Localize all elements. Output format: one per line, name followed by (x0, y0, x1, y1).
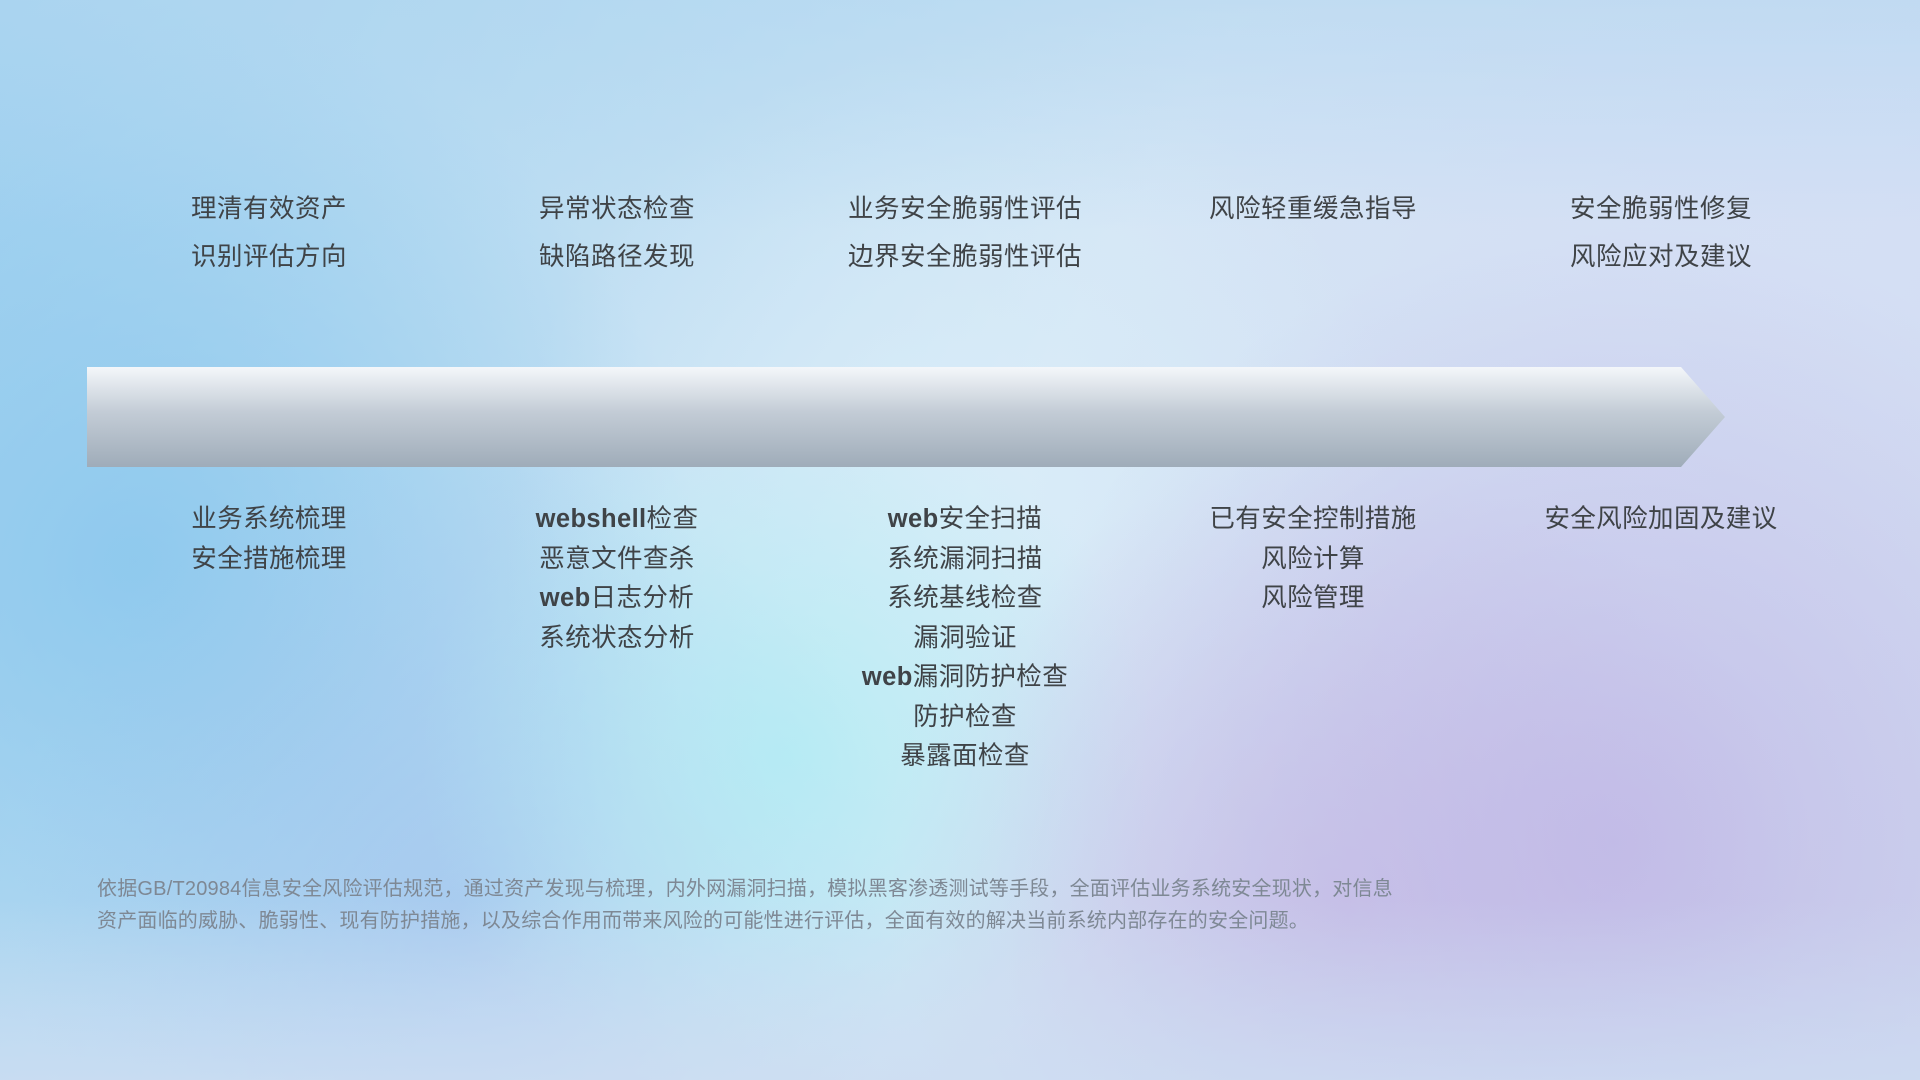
footer-description: 依据GB/T20984信息安全风险评估规范，通过资产发现与梳理，内外网漏洞扫描，… (97, 873, 1657, 937)
top-caption-column-risk-analysis: 风险轻重缓急指导 (1139, 185, 1487, 295)
bottom-caption-column-intrusion-check: webshell检查恶意文件查杀web日志分析系统状态分析 (443, 500, 791, 777)
bottom-caption-column-risk-analysis: 已有安全控制措施风险计算风险管理 (1139, 500, 1487, 777)
bottom-caption-line: 系统基线检查 (887, 579, 1042, 619)
bottom-caption-line: web安全扫描 (888, 500, 1042, 540)
bottom-caption-column-weakness-detection: web安全扫描系统漏洞扫描系统基线检查漏洞验证web漏洞防护检查防护检查暴露面检… (791, 500, 1139, 777)
top-caption-row: 理清有效资产识别评估方向异常状态检查缺陷路径发现业务安全脆弱性评估边界安全脆弱性… (95, 185, 1835, 295)
footer-line-2: 资产面临的威胁、脆弱性、现有防护措施，以及综合作用而带来风险的可能性进行评估，全… (97, 905, 1657, 937)
bottom-caption-line: 风险计算 (1261, 540, 1365, 580)
bottom-caption-line: 暴露面检查 (900, 737, 1030, 777)
top-caption-line: 理清有效资产 (191, 185, 347, 233)
chevron-bevel-intrusion-check (387, 367, 737, 467)
infographic-stage: 理清有效资产识别评估方向异常状态检查缺陷路径发现业务安全脆弱性评估边界安全脆弱性… (0, 0, 1920, 1080)
bottom-caption-column-risk-report: 安全风险加固及建议 (1487, 500, 1835, 777)
top-caption-line: 安全脆弱性修复 (1570, 185, 1752, 233)
bottom-caption-line: 恶意文件查杀 (539, 540, 694, 580)
top-caption-column-risk-report: 安全脆弱性修复风险应对及建议 (1487, 185, 1835, 295)
top-caption-line: 风险应对及建议 (1570, 233, 1752, 281)
chevron-bevel-weakness-detection (691, 367, 1101, 467)
bottom-caption-line: webshell检查 (536, 500, 699, 540)
bottom-caption-line: 业务系统梳理 (191, 500, 346, 540)
top-caption-column-weakness-detection: 业务安全脆弱性评估边界安全脆弱性评估 (791, 185, 1139, 295)
bottom-caption-line: 防护检查 (913, 698, 1017, 738)
top-caption-column-intrusion-check: 异常状态检查缺陷路径发现 (443, 185, 791, 295)
bottom-caption-line: 系统状态分析 (539, 619, 694, 659)
bottom-caption-line: 安全措施梳理 (191, 540, 346, 580)
chevron-bevel-risk-analysis (1055, 367, 1379, 467)
bottom-caption-line: 安全风险加固及建议 (1544, 500, 1777, 540)
footer-line-1: 依据GB/T20984信息安全风险评估规范，通过资产发现与梳理，内外网漏洞扫描，… (97, 873, 1657, 905)
chevron-bevel-asset-inventory (87, 367, 433, 467)
bottom-caption-line: web漏洞防护检查 (862, 658, 1068, 698)
bottom-caption-line: web日志分析 (540, 579, 694, 619)
top-caption-line: 识别评估方向 (191, 233, 347, 281)
top-caption-line: 边界安全脆弱性评估 (848, 233, 1082, 281)
process-chevron-band: 资产全面梳理精准入侵检查全面弱点检测风险分析风险评估报告 (90, 367, 1838, 467)
bottom-caption-line: 漏洞验证 (913, 619, 1017, 659)
bottom-caption-line: 已有安全控制措施 (1209, 500, 1416, 540)
bottom-caption-line: 系统漏洞扫描 (887, 540, 1042, 580)
top-caption-line: 缺陷路径发现 (539, 233, 695, 281)
bottom-caption-row: 业务系统梳理安全措施梳理webshell检查恶意文件查杀web日志分析系统状态分… (95, 500, 1835, 777)
bottom-caption-line: 风险管理 (1261, 579, 1365, 619)
bottom-caption-column-asset-inventory: 业务系统梳理安全措施梳理 (95, 500, 443, 777)
top-caption-line: 业务安全脆弱性评估 (848, 185, 1082, 233)
chevron-bevel-risk-report (1333, 367, 1725, 467)
top-caption-line: 风险轻重缓急指导 (1209, 185, 1417, 233)
top-caption-column-asset-inventory: 理清有效资产识别评估方向 (95, 185, 443, 295)
top-caption-line: 异常状态检查 (539, 185, 695, 233)
